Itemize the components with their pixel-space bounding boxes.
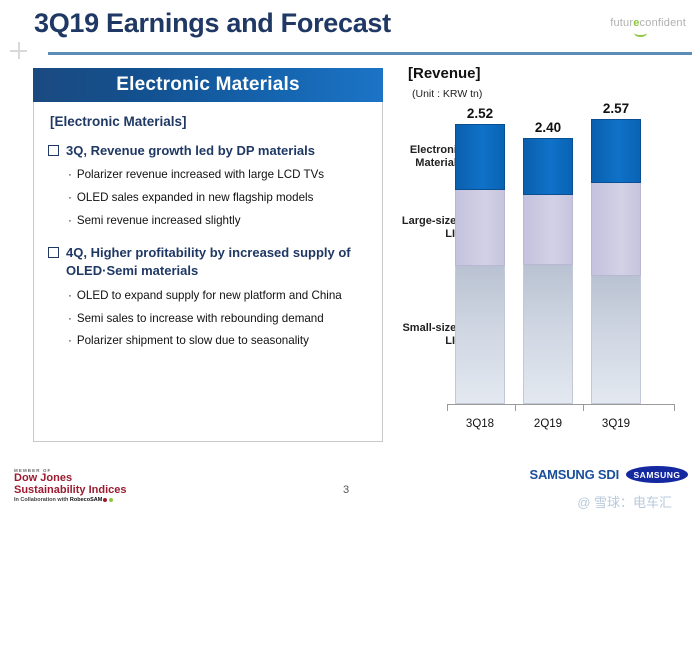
panel-body: [Electronic Materials] 3Q, Revenue growt…	[33, 102, 383, 442]
smile-icon	[634, 29, 647, 37]
section-title: [Electronic Materials]	[50, 114, 372, 129]
bullet-icon: ·	[68, 311, 72, 328]
samsung-sdi-logo: SAMSUNG SDI SAMSUNG	[529, 466, 688, 483]
topic-3q: 3Q, Revenue growth led by DP materials	[48, 142, 372, 160]
x-axis-tick	[447, 404, 448, 411]
bullet-icon: ·	[68, 167, 72, 184]
bar-3q19: 2.57	[591, 119, 641, 404]
checkbox-icon	[48, 247, 59, 258]
djsi-line2: Sustainability Indices	[14, 485, 164, 497]
list-item-label: Polarizer shipment to slow due to season…	[77, 333, 309, 350]
bar-segment-large-sized-lib	[591, 183, 641, 276]
bullet-icon: ·	[68, 288, 72, 305]
future-confident-tagline: futureconfident	[610, 17, 686, 29]
bullet-icon: ·	[68, 213, 72, 230]
bar-3q18: 2.52	[455, 124, 505, 404]
djsi-robecosam-label: RobecoSAM	[70, 497, 102, 503]
list-item-label: Polarizer revenue increased with large L…	[77, 167, 324, 184]
panel-heading: Electronic Materials	[33, 68, 383, 102]
bar-value-label: 2.57	[603, 101, 629, 116]
chart-title: [Revenue]	[408, 65, 481, 82]
x-axis-label-3q18: 3Q18	[466, 418, 494, 430]
tagline-pre: futur	[610, 17, 633, 29]
bar-2q19: 2.40	[523, 138, 573, 404]
list-item: ·OLED to expand supply for new platform …	[68, 288, 372, 305]
slide: 3Q19 Earnings and Forecast futureconfide…	[0, 0, 700, 515]
list-item-label: Semi revenue increased slightly	[77, 213, 241, 230]
bar-segment-small-sized-lib	[591, 276, 641, 404]
list-item: ·Semi sales to increase with rebounding …	[68, 311, 372, 328]
x-axis-label-3q19: 3Q19	[602, 418, 630, 430]
bar-segment-electronic-materials	[591, 119, 641, 183]
list-item: ·OLED sales expanded in new flagship mod…	[68, 190, 372, 207]
bar-segment-small-sized-lib	[523, 265, 573, 404]
tagline-post: confident	[640, 17, 686, 29]
topic-3q-label: 3Q, Revenue growth led by DP materials	[66, 142, 372, 160]
djsi-logo: MEMBER OF Dow Jones Sustainability Indic…	[14, 468, 164, 503]
list-item: ·Semi revenue increased slightly	[68, 213, 372, 230]
djsi-dot-green-icon	[109, 498, 113, 502]
list-item-label: OLED sales expanded in new flagship mode…	[77, 190, 314, 207]
page-number: 3	[343, 484, 349, 496]
bar-value-label: 2.40	[535, 120, 561, 135]
legend-small-sized-lib: Small-sizedLIB	[402, 322, 463, 350]
x-axis-tick	[583, 404, 584, 411]
header-divider	[48, 52, 692, 55]
checkbox-icon	[48, 145, 59, 156]
samsung-sdi-text: SAMSUNG SDI	[529, 467, 619, 482]
x-axis-tick	[674, 404, 675, 411]
bar-segment-large-sized-lib	[455, 190, 505, 267]
topic-4q: 4Q, Higher profitability by increased su…	[48, 244, 372, 281]
chart-plot-area: ElectronicMaterials Large-sizedLIB Small…	[395, 122, 690, 457]
list-item-label: OLED to expand supply for new platform a…	[77, 288, 342, 305]
legend-large-sized-lib: Large-sizedLIB	[402, 215, 463, 243]
x-axis-label-2q19: 2Q19	[534, 418, 562, 430]
bar-segment-electronic-materials	[455, 124, 505, 189]
bar-segment-electronic-materials	[523, 138, 573, 196]
list-item: ·Polarizer shipment to slow due to seaso…	[68, 333, 372, 350]
bullet-icon: ·	[68, 190, 72, 207]
list-item-label: Semi sales to increase with rebounding d…	[77, 311, 324, 328]
x-axis-line	[447, 404, 675, 405]
revenue-chart: [Revenue] (Unit : KRW tn) ElectronicMate…	[395, 62, 690, 457]
samsung-oval-logo: SAMSUNG	[626, 466, 688, 483]
topic-4q-label: 4Q, Higher profitability by increased su…	[66, 244, 372, 281]
bar-segment-large-sized-lib	[523, 195, 573, 265]
electronic-materials-panel: Electronic Materials [Electronic Materia…	[33, 68, 383, 442]
x-axis-tick	[515, 404, 516, 411]
bottom-watermark: @ 雪球：电车汇	[577, 492, 672, 511]
list-item: ·Polarizer revenue increased with large …	[68, 167, 372, 184]
bar-value-label: 2.52	[467, 106, 493, 121]
page-title: 3Q19 Earnings and Forecast	[34, 8, 391, 39]
bullet-icon: ·	[68, 333, 72, 350]
djsi-collab-label: In Collaboration with	[14, 497, 70, 503]
djsi-line3: In Collaboration with RobecoSAM	[14, 497, 164, 503]
plus-icon	[10, 42, 27, 59]
bar-segment-small-sized-lib	[455, 266, 505, 404]
chart-unit-label: (Unit : KRW tn)	[412, 88, 482, 100]
djsi-line1: Dow Jones	[14, 473, 164, 485]
djsi-dot-red-icon	[103, 498, 107, 502]
